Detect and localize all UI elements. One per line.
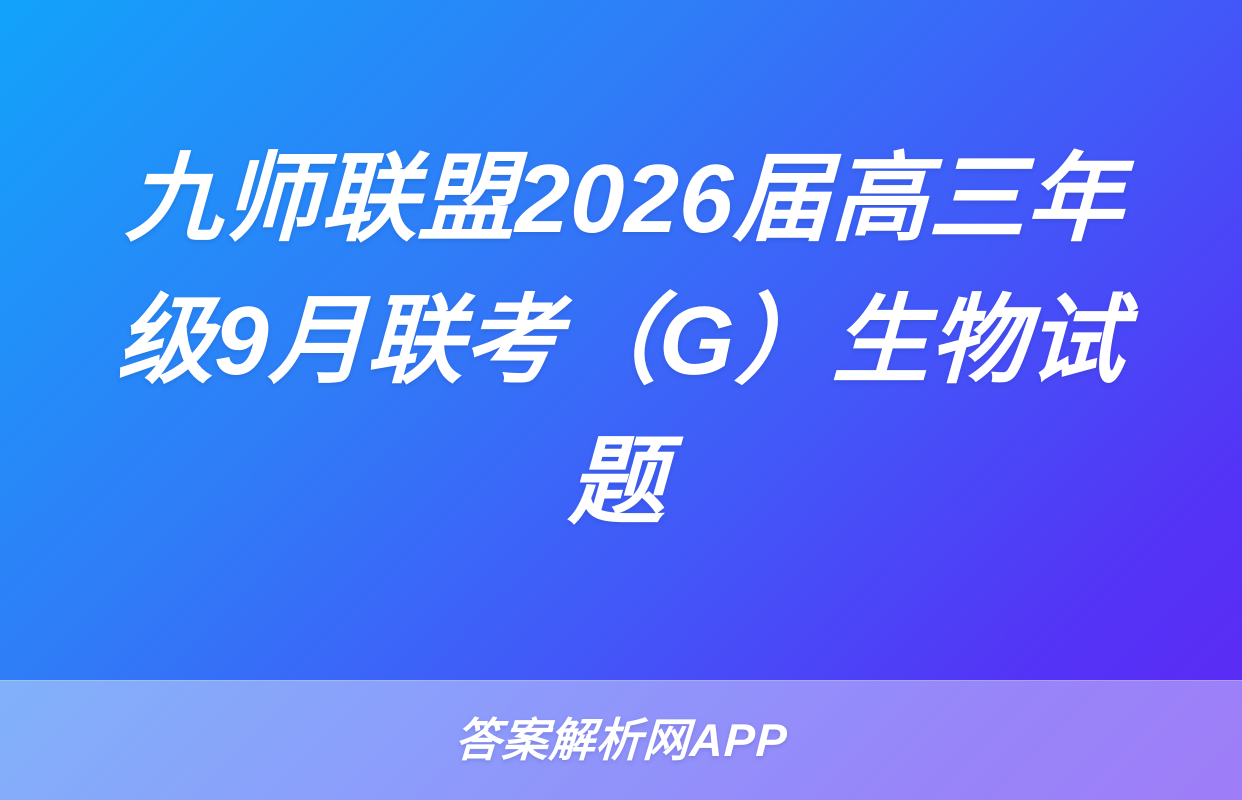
poster-canvas: 九师联盟2026届高三年级9月联考（G）生物试题 答案解析网APP [0,0,1242,800]
hero-section: 九师联盟2026届高三年级9月联考（G）生物试题 [0,0,1242,680]
page-title: 九师联盟2026届高三年级9月联考（G）生物试题 [106,128,1135,553]
footer-watermark-band: 答案解析网APP [0,680,1242,800]
watermark-label: 答案解析网APP [453,717,788,763]
